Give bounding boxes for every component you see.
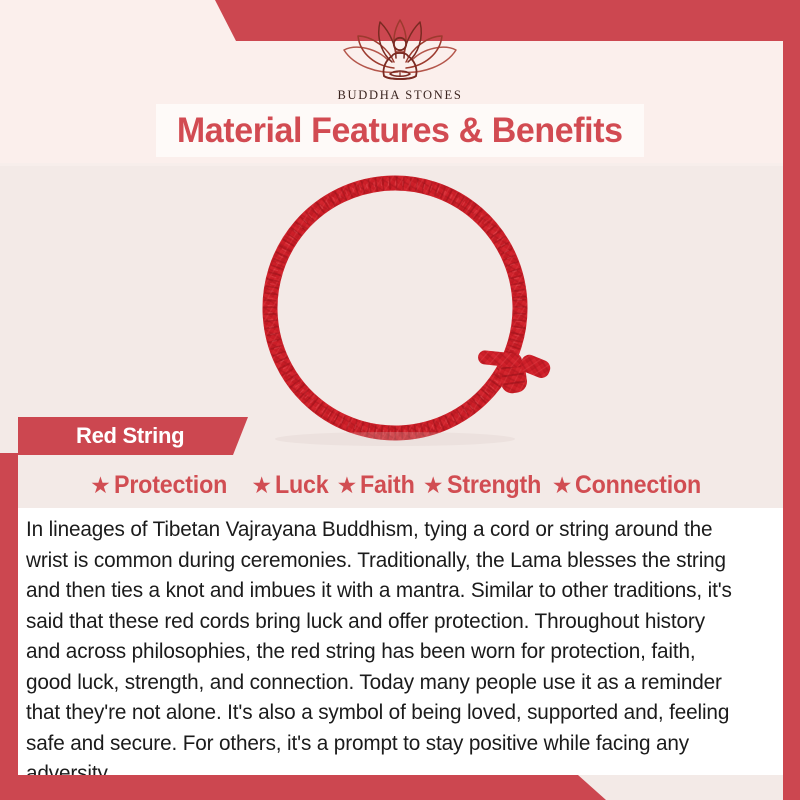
benefit-label: Faith	[360, 471, 415, 500]
material-label-ribbon: Red String	[18, 417, 248, 455]
star-icon: ★	[337, 474, 358, 497]
lotus-meditation-icon	[336, 14, 464, 86]
benefits-row: ★ Protection ★ Luck ★ Faith ★ Strength ★…	[18, 466, 783, 504]
star-icon: ★	[90, 474, 111, 497]
product-photo	[0, 163, 783, 453]
description-text: In lineages of Tibetan Vajrayana Buddhis…	[26, 514, 739, 789]
star-icon: ★	[552, 474, 573, 497]
benefit-item: ★ Faith	[337, 471, 419, 500]
infographic-page: BUDDHA STONES Material Features & Benefi…	[0, 0, 800, 800]
star-icon: ★	[423, 474, 444, 497]
benefit-label: Connection	[575, 471, 701, 500]
title-banner: Material Features & Benefits	[156, 104, 644, 157]
material-label: Red String	[76, 423, 184, 449]
brand-logo: BUDDHA STONES	[0, 14, 800, 103]
benefit-item: ★ Strength	[423, 471, 548, 500]
benefit-item: ★ Connection	[552, 471, 711, 500]
star-icon: ★	[251, 474, 272, 497]
right-decorative-stripe	[783, 0, 800, 800]
benefit-label: Luck	[275, 471, 329, 500]
description-panel: In lineages of Tibetan Vajrayana Buddhis…	[18, 508, 783, 775]
page-title: Material Features & Benefits	[177, 111, 623, 151]
benefit-label: Strength	[447, 471, 541, 500]
benefit-item: ★ Protection	[90, 471, 235, 500]
benefit-label: Protection	[114, 471, 227, 500]
benefit-item: ★ Luck	[251, 471, 332, 500]
brand-wordmark: BUDDHA STONES	[337, 88, 462, 103]
